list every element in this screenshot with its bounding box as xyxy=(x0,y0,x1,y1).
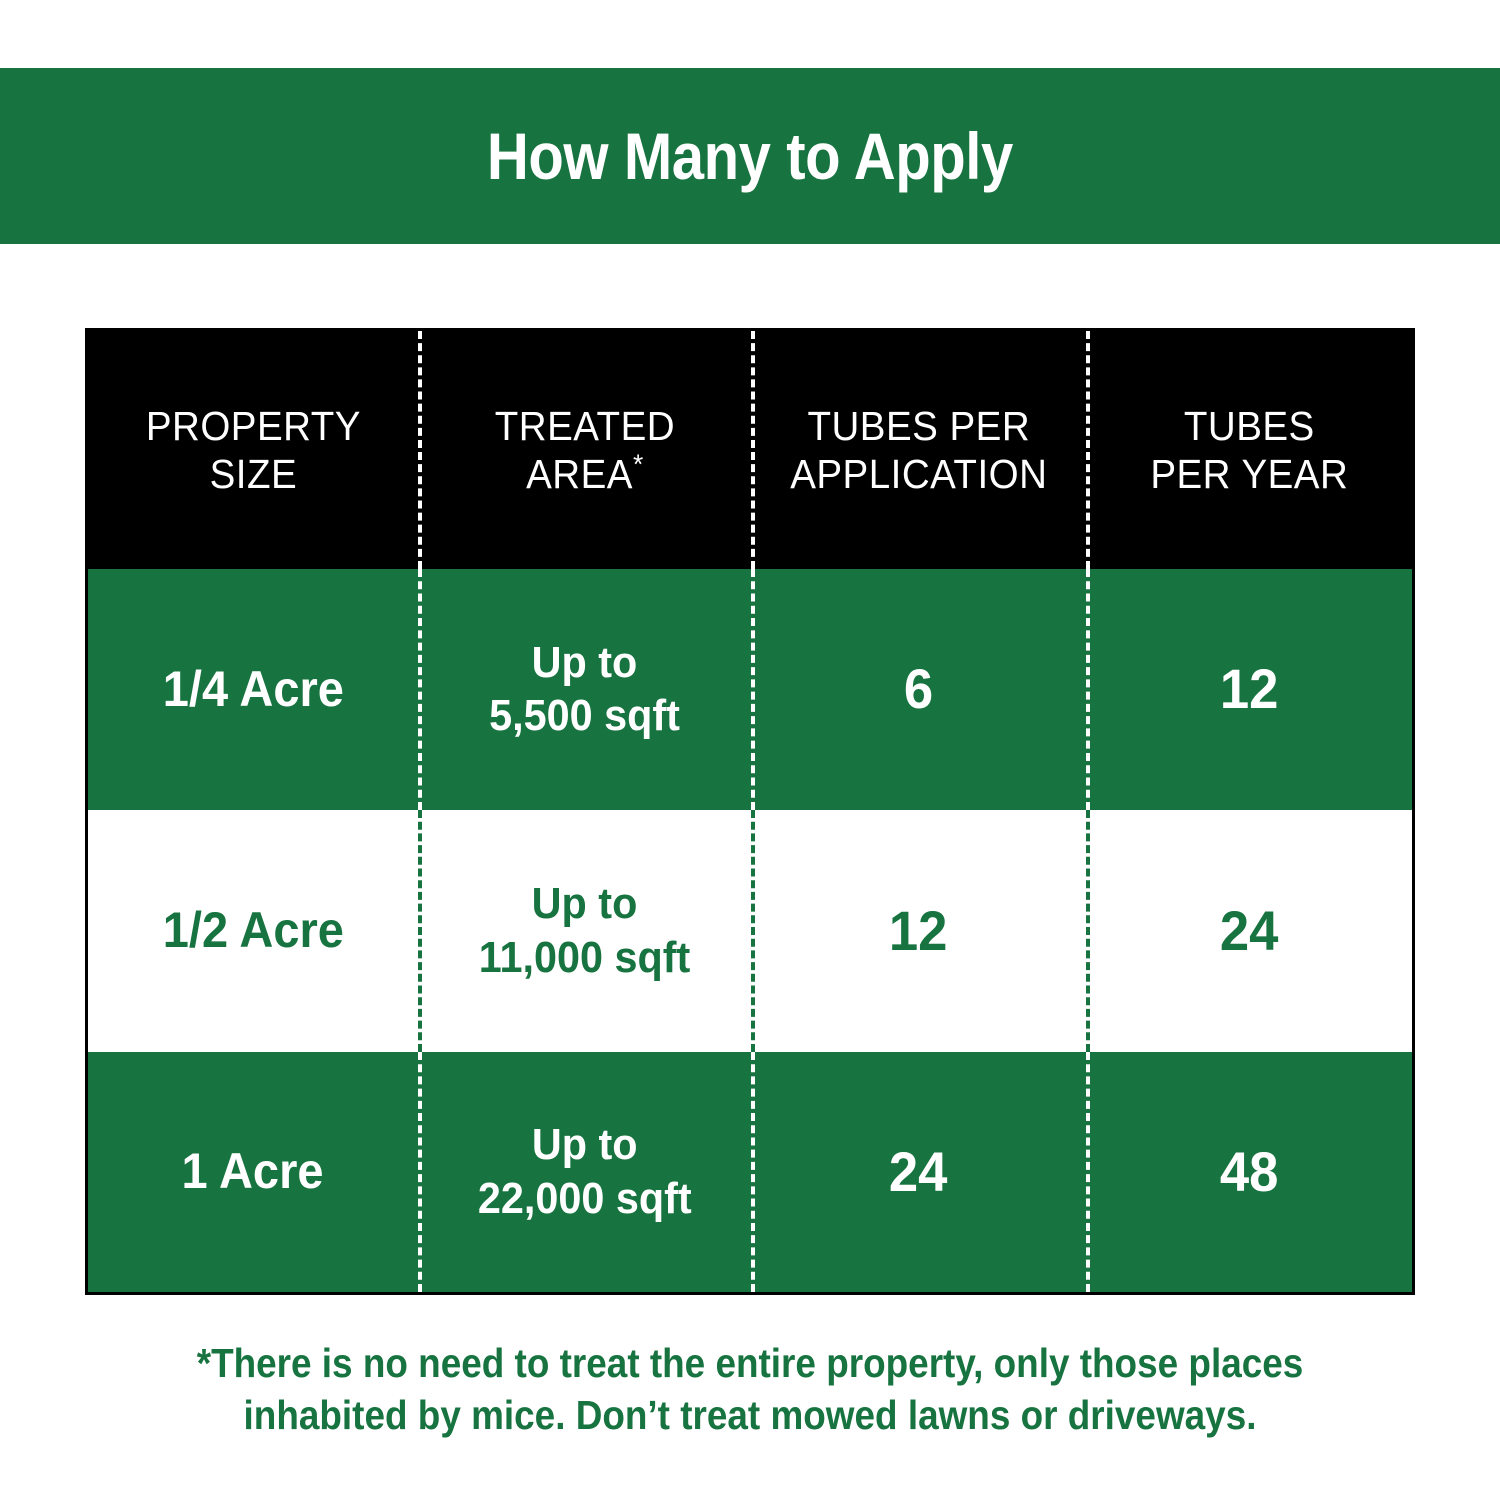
value-tubes-per-year: 24 xyxy=(1220,903,1279,959)
header-tubes-per-year-line2: PER YEAR xyxy=(1150,451,1348,497)
how-many-to-apply-table: PROPERTY SIZE TREATED AREA* TUBES PER AP… xyxy=(85,328,1415,1295)
value-property-size: 1/4 Acre xyxy=(162,662,343,717)
header-treated-area-line2: AREA xyxy=(526,451,633,497)
header-property-size-line2: SIZE xyxy=(209,451,297,497)
footnote: *There is no need to treat the entire pr… xyxy=(75,1337,1425,1442)
value-tubes-per-year: 12 xyxy=(1220,661,1279,717)
treated-area-line2: 22,000 sqft xyxy=(478,1174,692,1223)
value-property-size: 1/2 Acre xyxy=(162,903,343,958)
footnote-line-2: inhabited by mice. Don’t treat mowed law… xyxy=(75,1389,1425,1441)
value-treated-area: Up to 5,500 sqft xyxy=(489,636,680,743)
footnote-line-1: *There is no need to treat the entire pr… xyxy=(75,1337,1425,1389)
cell-tubes-per-application: 24 xyxy=(751,1052,1086,1292)
cell-tubes-per-application: 6 xyxy=(751,569,1086,809)
treated-area-line1: Up to xyxy=(532,879,638,928)
footnote-marker: * xyxy=(633,448,644,479)
header-property-size-line1: PROPERTY xyxy=(145,403,360,449)
table-row: 1 Acre Up to 22,000 sqft 24 48 xyxy=(88,1052,1412,1292)
cell-tubes-per-year: 48 xyxy=(1086,1052,1412,1292)
value-tubes-per-application: 24 xyxy=(889,1144,948,1200)
header-tubes-per-application-line2: APPLICATION xyxy=(790,451,1047,497)
table-row: 1/2 Acre Up to 11,000 sqft 12 24 xyxy=(88,810,1412,1052)
value-treated-area: Up to 22,000 sqft xyxy=(478,1118,692,1225)
value-treated-area: Up to 11,000 sqft xyxy=(479,877,691,984)
cell-property-size: 1 Acre xyxy=(88,1052,418,1292)
header-cell-property-size: PROPERTY SIZE xyxy=(88,331,418,569)
value-tubes-per-application: 12 xyxy=(889,903,948,959)
cell-tubes-per-application: 12 xyxy=(751,810,1086,1052)
header-label-property-size: PROPERTY SIZE xyxy=(145,402,360,499)
cell-tubes-per-year: 24 xyxy=(1086,810,1412,1052)
value-tubes-per-application: 6 xyxy=(904,661,933,717)
treated-area-line2: 11,000 sqft xyxy=(479,933,691,982)
header-label-tubes-per-application: TUBES PER APPLICATION xyxy=(790,402,1047,499)
treated-area-line2: 5,500 sqft xyxy=(489,691,680,740)
title-banner: How Many to Apply xyxy=(0,68,1500,244)
header-tubes-per-year-line1: TUBES xyxy=(1184,403,1315,449)
value-tubes-per-year: 48 xyxy=(1220,1144,1279,1200)
header-label-treated-area: TREATED AREA* xyxy=(494,402,674,499)
cell-treated-area: Up to 22,000 sqft xyxy=(418,1052,751,1292)
treated-area-line1: Up to xyxy=(532,1120,638,1169)
table-row: 1/4 Acre Up to 5,500 sqft 6 12 xyxy=(88,569,1412,809)
value-property-size: 1 Acre xyxy=(182,1144,324,1199)
cell-treated-area: Up to 11,000 sqft xyxy=(418,810,751,1052)
header-treated-area-line1: TREATED xyxy=(494,403,674,449)
cell-property-size: 1/2 Acre xyxy=(88,810,418,1052)
cell-tubes-per-year: 12 xyxy=(1086,569,1412,809)
cell-treated-area: Up to 5,500 sqft xyxy=(418,569,751,809)
cell-property-size: 1/4 Acre xyxy=(88,569,418,809)
header-cell-tubes-per-year: TUBES PER YEAR xyxy=(1086,331,1412,569)
treated-area-line1: Up to xyxy=(532,638,638,687)
header-label-tubes-per-year: TUBES PER YEAR xyxy=(1150,402,1348,499)
page-title: How Many to Apply xyxy=(487,123,1013,189)
header-cell-treated-area: TREATED AREA* xyxy=(418,331,751,569)
table-header-row: PROPERTY SIZE TREATED AREA* TUBES PER AP… xyxy=(88,331,1412,569)
header-cell-tubes-per-application: TUBES PER APPLICATION xyxy=(751,331,1086,569)
header-tubes-per-application-line1: TUBES PER xyxy=(807,403,1030,449)
